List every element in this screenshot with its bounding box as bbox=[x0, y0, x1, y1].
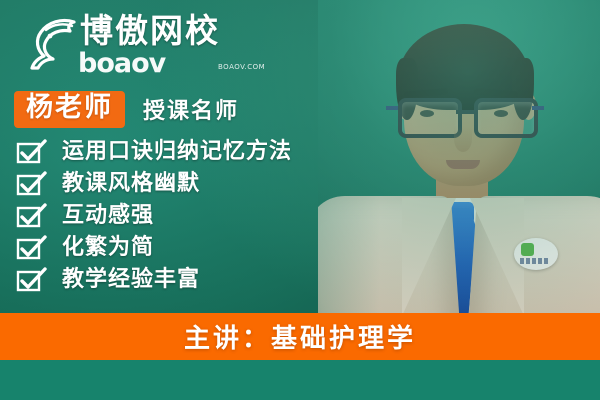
bottom-teal-strip bbox=[0, 360, 600, 400]
list-item-label: 教课风格幽默 bbox=[62, 171, 200, 197]
list-item: 教课风格幽默 bbox=[16, 168, 446, 200]
teacher-badge-row: 杨老师 授课名师 bbox=[14, 91, 239, 127]
checkbox-checked-icon bbox=[16, 267, 48, 293]
checkbox-checked-icon bbox=[16, 139, 48, 165]
teacher-title-label: 授课名师 bbox=[143, 93, 239, 125]
brand-sub-text: BOAOV.COM bbox=[218, 63, 265, 71]
checkbox-checked-icon bbox=[16, 203, 48, 229]
brand-name-cn: 博傲网校 bbox=[80, 12, 220, 50]
list-item: 教学经验丰富 bbox=[16, 264, 446, 296]
list-item-label: 教学经验丰富 bbox=[62, 267, 200, 293]
list-item-label: 运用口诀归纳记忆方法 bbox=[62, 139, 292, 165]
checkbox-checked-icon bbox=[16, 171, 48, 197]
list-item: 运用口诀归纳记忆方法 bbox=[16, 136, 446, 168]
feature-list: 运用口诀归纳记忆方法 教课风格幽默 互动感强 bbox=[16, 136, 446, 296]
teacher-name-badge: 杨老师 bbox=[14, 91, 125, 128]
list-item: 化繁为简 bbox=[16, 232, 446, 264]
checkbox-checked-icon bbox=[16, 235, 48, 261]
course-title-bar: 主讲：基础护理学 bbox=[0, 313, 600, 360]
brand-name-latin: boaov bbox=[78, 49, 165, 78]
promo-poster: 博傲网校 boaov BOAOV.COM 杨老师 授课名师 运用口诀归纳记忆方法 bbox=[0, 0, 600, 400]
list-item-label: 互动感强 bbox=[62, 203, 154, 229]
list-item-label: 化繁为简 bbox=[62, 235, 154, 261]
course-title-text: 主讲：基础护理学 bbox=[184, 318, 416, 355]
dolphin-icon bbox=[26, 12, 82, 74]
list-item: 互动感强 bbox=[16, 200, 446, 232]
brand-logo: 博傲网校 boaov BOAOV.COM bbox=[22, 8, 272, 82]
